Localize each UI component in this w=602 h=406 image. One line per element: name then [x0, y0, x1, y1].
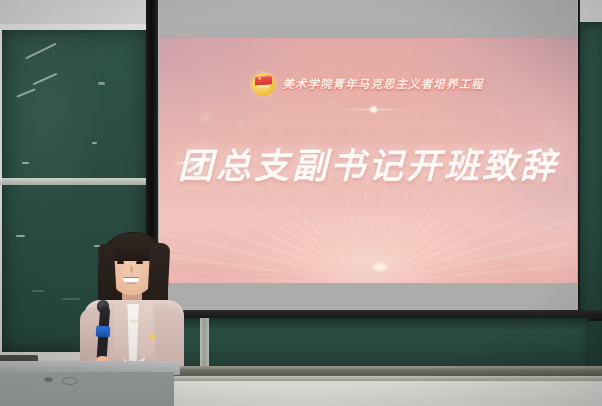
slide-bottom-haze	[159, 257, 577, 283]
slide-title: 团总支副书记开班致辞	[159, 138, 577, 189]
screenshot-root: 美术学院青年马克思主义者培养工程 团总支副书记开班致辞	[0, 0, 602, 406]
center-chalkboard-strip	[159, 318, 589, 368]
lens-flare-star	[369, 105, 378, 114]
communist-youth-league-emblem-icon	[252, 73, 275, 96]
bokeh-particle	[459, 122, 464, 127]
presenter-eye-right	[136, 261, 143, 264]
podium-cable-hole	[44, 377, 53, 382]
lens-flare-lower	[372, 262, 388, 272]
podium-cable-hole	[62, 377, 78, 385]
presenter-eye-left	[117, 261, 124, 264]
bokeh-particle	[199, 110, 213, 124]
bokeh-particle	[499, 108, 507, 116]
presentation-slide: 美术学院青年马克思主义者培养工程 团总支副书记开班致辞	[159, 38, 577, 283]
microphone-blue-band	[96, 326, 111, 338]
podium-body	[0, 372, 174, 406]
title-flourish-right	[537, 162, 563, 164]
title-flourish-left	[173, 162, 199, 164]
slide-subtitle-row: 美术学院青年马克思主义者培养工程	[159, 70, 577, 98]
projection-screen: 美术学院青年马克思主义者培养工程 团总支副书记开班致辞	[159, 0, 577, 318]
slide-subtitle: 美术学院青年马克思主义者培养工程	[282, 76, 484, 92]
left-chalkboard-divider	[0, 178, 150, 185]
presenter-mouth	[123, 277, 139, 284]
bokeh-particle	[237, 120, 246, 129]
lapel-pin-icon	[150, 334, 155, 339]
center-chalkboard-divider	[200, 318, 209, 368]
bokeh-particle	[414, 112, 420, 118]
presenter-nose	[130, 266, 133, 273]
presenter	[78, 228, 190, 378]
bokeh-particle	[327, 100, 332, 105]
